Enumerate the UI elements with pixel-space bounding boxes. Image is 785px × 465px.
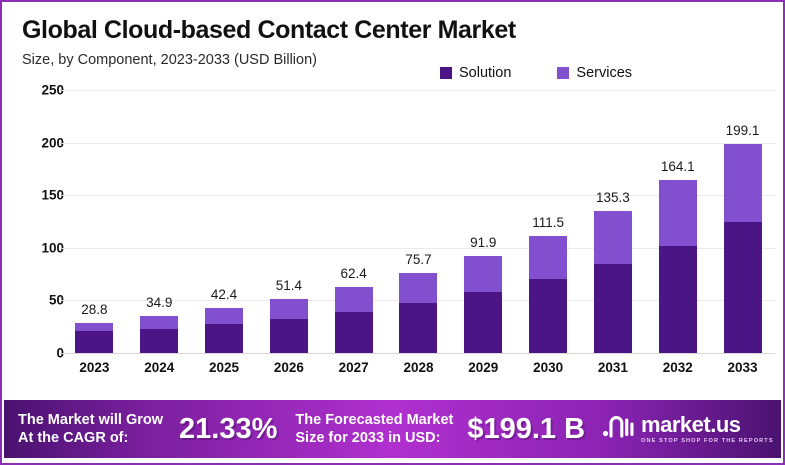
- bar-value-label: 34.9: [146, 295, 172, 310]
- bar-stack[interactable]: [529, 236, 567, 353]
- bar-group[interactable]: 164.1: [659, 90, 697, 353]
- x-axis-tick: 2027: [335, 360, 373, 375]
- bar-series: 28.834.942.451.462.475.791.9111.5135.316…: [62, 90, 775, 353]
- y-axis-tick: 200: [41, 135, 64, 150]
- bar-segment-solution[interactable]: [399, 303, 437, 353]
- bar-value-label: 42.4: [211, 287, 237, 302]
- y-axis: 250200150100500: [20, 90, 64, 356]
- bar-stack[interactable]: [140, 316, 178, 353]
- bar-segment-solution[interactable]: [529, 279, 567, 353]
- bar-segment-services[interactable]: [140, 316, 178, 328]
- x-axis-tick: 2032: [659, 360, 697, 375]
- chart-subtitle: Size, by Component, 2023-2033 (USD Billi…: [22, 52, 317, 68]
- forecast-caption-line-1: The Forecasted Market: [295, 411, 453, 429]
- bar-segment-solution[interactable]: [464, 292, 502, 353]
- cagr-caption-line-2: At the CAGR of:: [18, 429, 163, 447]
- x-axis-tick: 2031: [594, 360, 632, 375]
- legend-swatch-services: [557, 67, 569, 79]
- bar-stack[interactable]: [724, 144, 762, 353]
- bar-group[interactable]: 34.9: [140, 90, 178, 353]
- bar-segment-services[interactable]: [464, 256, 502, 292]
- bar-group[interactable]: 62.4: [335, 90, 373, 353]
- bar-segment-solution[interactable]: [594, 264, 632, 353]
- bar-group[interactable]: 111.5: [529, 90, 567, 353]
- bar-segment-solution[interactable]: [75, 331, 113, 353]
- bar-value-label: 164.1: [661, 159, 695, 174]
- cagr-caption-line-1: The Market will Grow: [18, 411, 163, 429]
- bar-stack[interactable]: [659, 180, 697, 353]
- bar-segment-solution[interactable]: [724, 222, 762, 353]
- plot-area: 250200150100500 28.834.942.451.462.475.7…: [2, 90, 783, 390]
- page-title: Global Cloud-based Contact Center Market: [22, 16, 516, 45]
- brand-tagline: ONE STOP SHOP FOR THE REPORTS: [641, 439, 774, 445]
- bar-value-label: 28.8: [81, 302, 107, 317]
- bar-segment-solution[interactable]: [270, 319, 308, 353]
- bar-group[interactable]: 75.7: [399, 90, 437, 353]
- x-axis: 2023202420252026202720282029203020312032…: [62, 360, 775, 375]
- bar-segment-services[interactable]: [335, 287, 373, 312]
- brand-text: market.us ONE STOP SHOP FOR THE REPORTS: [641, 414, 774, 445]
- bar-stack[interactable]: [205, 308, 243, 353]
- brand-logo: market.us ONE STOP SHOP FOR THE REPORTS: [601, 414, 774, 445]
- x-axis-tick: 2026: [270, 360, 308, 375]
- market-us-logo-icon: [601, 414, 635, 445]
- bar-value-label: 199.1: [726, 123, 760, 138]
- chart-header: Global Cloud-based Contact Center Market…: [2, 2, 783, 90]
- legend-item-solution: Solution: [440, 65, 511, 81]
- bar-stack[interactable]: [399, 273, 437, 353]
- bar-stack[interactable]: [335, 287, 373, 353]
- brand-name: market.us: [641, 414, 774, 436]
- x-axis-tick: 2023: [75, 360, 113, 375]
- x-axis-tick: 2030: [529, 360, 567, 375]
- x-axis-tick: 2025: [205, 360, 243, 375]
- bar-segment-solution[interactable]: [205, 324, 243, 353]
- bar-group[interactable]: 199.1: [724, 90, 762, 353]
- bar-segment-services[interactable]: [594, 211, 632, 264]
- forecast-caption-line-2: Size for 2033 in USD:: [295, 429, 453, 447]
- bar-group[interactable]: 42.4: [205, 90, 243, 353]
- bar-segment-services[interactable]: [529, 236, 567, 279]
- legend-item-services: Services: [557, 65, 632, 81]
- forecast-caption: The Forecasted Market Size for 2033 in U…: [295, 411, 453, 447]
- bar-group[interactable]: 28.8: [75, 90, 113, 353]
- cagr-value: 21.33%: [179, 413, 277, 446]
- cagr-caption: The Market will Grow At the CAGR of:: [18, 411, 163, 447]
- bar-value-label: 111.5: [532, 215, 564, 230]
- chart-legend: Solution Services: [440, 65, 632, 81]
- chart-card: Global Cloud-based Contact Center Market…: [0, 0, 785, 465]
- forecast-value: $199.1 B: [467, 413, 585, 446]
- bar-value-label: 135.3: [596, 190, 630, 205]
- bar-value-label: 91.9: [470, 235, 496, 250]
- bar-segment-services[interactable]: [659, 180, 697, 245]
- bar-stack[interactable]: [464, 256, 502, 353]
- legend-label-services: Services: [576, 65, 632, 81]
- bar-value-label: 62.4: [341, 266, 367, 281]
- y-axis-tick: 250: [41, 83, 64, 98]
- x-axis-tick: 2028: [399, 360, 437, 375]
- bar-stack[interactable]: [594, 211, 632, 353]
- bar-value-label: 51.4: [276, 278, 302, 293]
- bar-segment-services[interactable]: [205, 308, 243, 324]
- bar-stack[interactable]: [270, 299, 308, 353]
- bar-segment-solution[interactable]: [659, 246, 697, 353]
- bar-stack[interactable]: [75, 323, 113, 353]
- bar-segment-solution[interactable]: [335, 312, 373, 353]
- bar-segment-services[interactable]: [724, 144, 762, 222]
- y-axis-tick: 100: [41, 240, 64, 255]
- x-axis-tick: 2033: [724, 360, 762, 375]
- axis-baseline: [62, 353, 775, 354]
- legend-swatch-solution: [440, 67, 452, 79]
- y-axis-tick: 150: [41, 188, 64, 203]
- bar-value-label: 75.7: [405, 252, 431, 267]
- x-axis-tick: 2024: [140, 360, 178, 375]
- bar-group[interactable]: 91.9: [464, 90, 502, 353]
- bar-segment-services[interactable]: [399, 273, 437, 302]
- bar-group[interactable]: 51.4: [270, 90, 308, 353]
- summary-footer: The Market will Grow At the CAGR of: 21.…: [4, 400, 781, 458]
- bar-segment-services[interactable]: [75, 323, 113, 332]
- legend-label-solution: Solution: [459, 65, 511, 81]
- bar-group[interactable]: 135.3: [594, 90, 632, 353]
- bar-segment-services[interactable]: [270, 299, 308, 319]
- bar-segment-solution[interactable]: [140, 329, 178, 353]
- x-axis-tick: 2029: [464, 360, 502, 375]
